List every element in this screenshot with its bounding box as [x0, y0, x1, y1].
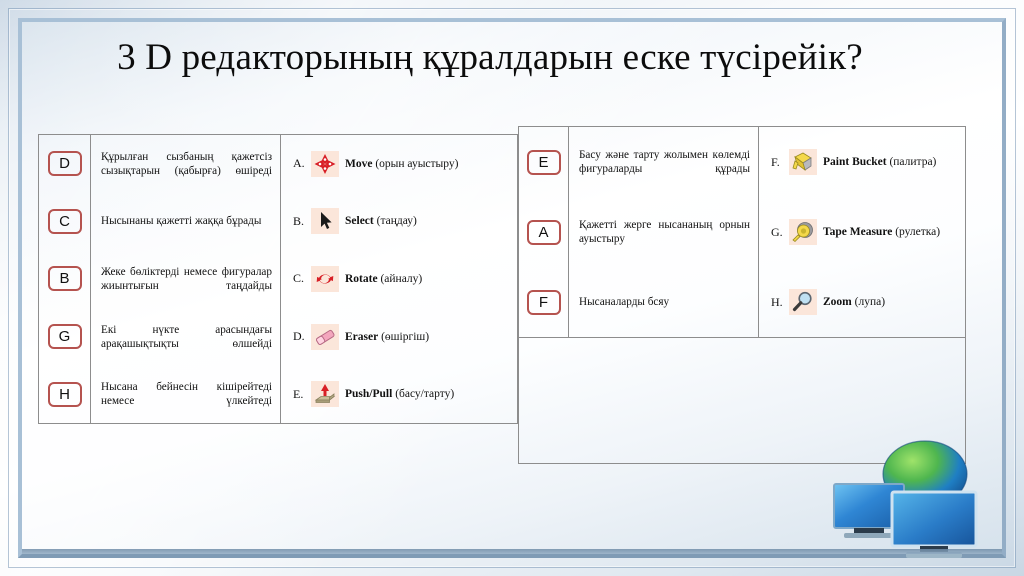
description-text: Қажетті жерге нысананың орнын ауыстыру [579, 218, 750, 246]
description-cell: Нысана бейнесін кішірейтеді немесе үлкей… [91, 365, 280, 423]
description-cell: Жеке бөліктерді немесе фигуралар жиынтығ… [91, 250, 280, 308]
tool-label: Eraser (өшіргіш) [345, 331, 429, 343]
letter-chip-b[interactable]: B [48, 266, 82, 291]
description-cell: Нысаналарды бсяу [569, 267, 758, 337]
tool-name: Eraser [345, 331, 378, 343]
zoom-icon [789, 289, 817, 315]
tool-name: Tape Measure [823, 226, 892, 238]
tool-label: Tape Measure (рулетка) [823, 226, 940, 238]
tool-translation: (лупа) [855, 296, 885, 308]
description-cell: Басу және тарту жолымен көлемді фигурала… [569, 127, 758, 197]
tool-letter: A. [293, 156, 311, 171]
description-text: Басу және тарту жолымен көлемді фигурала… [579, 148, 750, 176]
letter-chip-g[interactable]: G [48, 324, 82, 349]
tool-letter: D. [293, 329, 311, 344]
tool-label: Rotate (айналу) [345, 273, 422, 285]
tool-letter: G. [771, 225, 789, 240]
letter-cell: C [39, 193, 90, 251]
tool-name: Paint Bucket [823, 156, 887, 168]
letter-cell: A [519, 197, 568, 267]
letter-cell: D [39, 135, 90, 193]
slide-canvas: 3 D редакторының құралдарын еске түсірей… [0, 0, 1024, 576]
description-cell: Екі нүкте арасындағы арақашықтықты өлшей… [91, 308, 280, 366]
tool-name: Rotate [345, 273, 378, 285]
network-globe-monitors-icon [830, 434, 1010, 564]
description-text: Нысынаны қажетті жаққа бұрады [101, 214, 272, 228]
paint-bucket-icon [789, 149, 817, 175]
tool-row-eraser[interactable]: D. Eraser (өшіргіш) [281, 308, 517, 366]
tool-row-tape-measure[interactable]: G. Tape Measure (рулетка) [759, 197, 963, 267]
letter-cell: B [39, 250, 90, 308]
tool-translation: (рулетка) [895, 226, 940, 238]
letter-cell: E [519, 127, 568, 197]
description-column-left: Құрылған сызбаның қажетсіз сызықтарын (қ… [91, 135, 281, 423]
eraser-icon [311, 324, 339, 350]
tool-name: Move [345, 158, 372, 170]
tool-letter: F. [771, 155, 789, 170]
tools-table-left: D C B G H Құрылған сызбаның қажетсіз сыз… [38, 134, 518, 424]
page-title: 3 D редакторының құралдарын еске түсірей… [10, 36, 970, 80]
tool-translation: (өшіргіш) [381, 331, 429, 343]
tool-name: Select [345, 215, 374, 227]
description-text: Жеке бөліктерді немесе фигуралар жиынтығ… [101, 265, 272, 293]
tool-label: Move (орын ауыстыру) [345, 158, 458, 170]
tool-label: Push/Pull (басу/тарту) [345, 388, 454, 400]
description-column-right: Басу және тарту жолымен көлемді фигурала… [569, 127, 759, 337]
tool-row-rotate[interactable]: C. Rotate (айналу) [281, 250, 517, 308]
letter-chip-e[interactable]: E [527, 150, 561, 175]
letter-chip-c[interactable]: C [48, 209, 82, 234]
tool-translation: (басу/тарту) [395, 388, 454, 400]
tool-row-paint-bucket[interactable]: F. Paint Bucket (палитра) [759, 127, 963, 197]
description-cell: Нысынаны қажетті жаққа бұрады [91, 193, 280, 251]
select-icon [311, 208, 339, 234]
letter-cell: H [39, 365, 90, 423]
tool-label: Select (таңдау) [345, 215, 417, 227]
tool-label: Zoom (лупа) [823, 296, 885, 308]
tool-translation: (айналу) [380, 273, 422, 285]
tool-translation: (орын ауыстыру) [375, 158, 458, 170]
move-icon [311, 151, 339, 177]
tool-letter: H. [771, 295, 789, 310]
letter-chip-f[interactable]: F [527, 290, 561, 315]
tool-row-select[interactable]: B. Select (таңдау) [281, 193, 517, 251]
tool-name: Zoom [823, 296, 852, 308]
tool-row-zoom[interactable]: H. Zoom (лупа) [759, 267, 963, 337]
letter-chip-h[interactable]: H [48, 382, 82, 407]
letter-column-right: E A F [519, 127, 569, 337]
tool-letter: C. [293, 271, 311, 286]
description-text: Нысана бейнесін кішірейтеді немесе үлкей… [101, 380, 272, 408]
letter-cell: G [39, 308, 90, 366]
description-cell: Қажетті жерге нысананың орнын ауыстыру [569, 197, 758, 267]
tool-row-move[interactable]: A. [281, 135, 517, 193]
tool-translation: (таңдау) [377, 215, 417, 227]
pushpull-icon [311, 381, 339, 407]
tool-row-pushpull[interactable]: E. Push/Pull (басу/тарту) [281, 365, 517, 423]
rotate-icon [311, 266, 339, 292]
tool-column-right: F. Paint Bucket (палитра) G. [759, 127, 963, 337]
description-cell: Құрылған сызбаның қажетсіз сызықтарын (қ… [91, 135, 280, 193]
tool-translation: (палитра) [889, 156, 936, 168]
bottom-accent-band [22, 549, 1002, 554]
letter-chip-a[interactable]: A [527, 220, 561, 245]
tool-name: Push/Pull [345, 388, 392, 400]
description-text: Екі нүкте арасындағы арақашықтықты өлшей… [101, 323, 272, 351]
tool-column-left: A. [281, 135, 517, 423]
letter-chip-d[interactable]: D [48, 151, 82, 176]
tool-letter: B. [293, 214, 311, 229]
description-text: Нысаналарды бсяу [579, 295, 750, 309]
tools-table-right: E A F Басу және тарту жолымен көлемді фи… [518, 126, 966, 338]
tool-letter: E. [293, 387, 311, 402]
letter-cell: F [519, 267, 568, 337]
description-text: Құрылған сызбаның қажетсіз сызықтарын (қ… [101, 150, 272, 178]
tape-measure-icon [789, 219, 817, 245]
letter-column-left: D C B G H [39, 135, 91, 423]
tool-label: Paint Bucket (палитра) [823, 156, 936, 168]
